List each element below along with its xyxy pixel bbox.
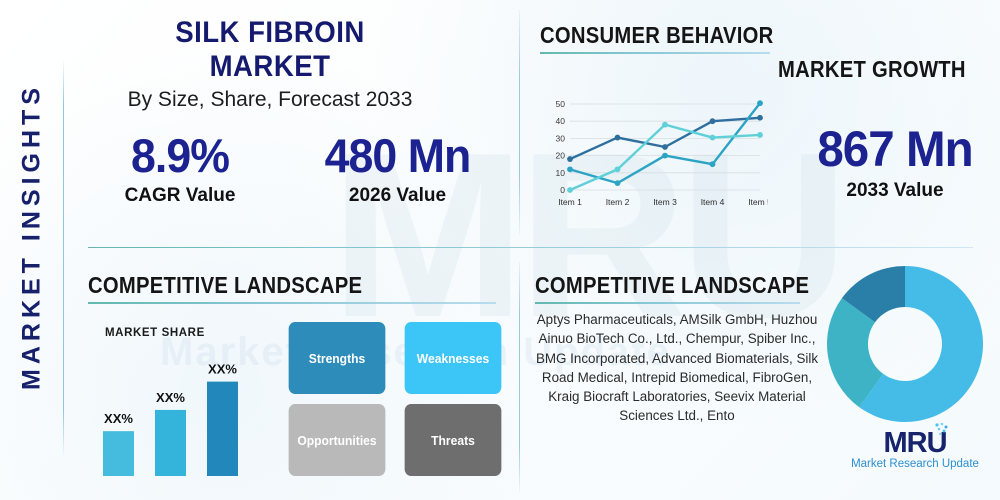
bar-chart-svg: XX%XX%XX%	[95, 330, 275, 478]
growth-stat: 867 Mn 2033 Value	[790, 120, 1000, 202]
svg-text:Item 1: Item 1	[558, 197, 582, 207]
swot-box-label: Strengths	[309, 351, 365, 366]
svg-text:30: 30	[556, 133, 566, 143]
horizontal-divider	[88, 247, 973, 248]
logo-mark: MRU	[883, 428, 946, 458]
swot-box-threats[interactable]: Threats	[405, 404, 502, 476]
swot-matrix: StrengthsWeaknessesOpportunitiesThreats	[285, 322, 505, 478]
svg-text:0: 0	[560, 185, 565, 195]
consumer-behavior-underline	[540, 52, 770, 54]
svg-text:Item 3: Item 3	[653, 197, 677, 207]
svg-text:XX%: XX%	[156, 390, 185, 405]
page-subtitle: By Size, Share, Forecast 2033	[85, 88, 455, 112]
company-list: Aptys Pharmaceuticals, AMSilk GmbH, Huzh…	[527, 310, 827, 426]
logo-dots-icon	[932, 422, 950, 438]
swot-box-opportunities[interactable]: Opportunities	[289, 404, 386, 476]
base-year-stat: 480 Mn 2026 Value	[290, 128, 505, 207]
growth-label: 2033 Value	[790, 180, 1000, 202]
market-share-donut-chart	[824, 263, 986, 425]
svg-text:Item 5: Item 5	[748, 197, 768, 207]
swot-box-label: Weaknesses	[417, 351, 489, 366]
cagr-label: CAGR Value	[85, 185, 275, 207]
growth-value: 867 Mn	[795, 120, 995, 178]
market-growth-heading: MARKET GROWTH	[778, 56, 966, 83]
swot-box-strengths[interactable]: Strengths	[289, 322, 386, 394]
consumer-behavior-line-chart: 01020304050Item 1Item 2Item 3Item 4Item …	[548, 98, 768, 210]
base-value: 480 Mn	[295, 128, 499, 183]
sidebar-rail: MARKET INSIGHTS	[0, 0, 60, 500]
svg-text:Item 4: Item 4	[701, 197, 725, 207]
cagr-stat: 8.9% CAGR Value	[85, 128, 275, 207]
svg-text:10: 10	[556, 168, 566, 178]
competitive-left-heading: COMPETITIVE LANDSCAPE	[88, 272, 362, 299]
base-label: 2026 Value	[290, 185, 505, 207]
logo-tagline: Market Research Update	[845, 458, 985, 470]
swot-box-label: Opportunities	[297, 433, 376, 448]
vertical-divider-bottom	[519, 262, 520, 492]
swot-box-weaknesses[interactable]: Weaknesses	[405, 322, 502, 394]
infographic-canvas: MRU Market Research Update MARKET INSIGH…	[0, 0, 1000, 500]
swot-box-label: Threats	[431, 433, 475, 448]
cagr-value: 8.9%	[90, 128, 271, 183]
brand-logo: MRU Market Research Update	[845, 428, 985, 470]
svg-text:50: 50	[556, 99, 566, 109]
donut-chart-svg	[824, 263, 986, 425]
competitive-right-underline	[535, 302, 800, 304]
svg-text:XX%: XX%	[208, 362, 237, 377]
market-share-bar-chart: XX%XX%XX%	[95, 330, 275, 478]
line-chart-svg: 01020304050Item 1Item 2Item 3Item 4Item …	[548, 98, 768, 210]
sidebar-label: MARKET INSIGHTS	[18, 42, 47, 432]
sidebar-divider	[63, 58, 64, 458]
vertical-divider-top	[519, 10, 520, 235]
svg-text:40: 40	[556, 116, 566, 126]
svg-text:XX%: XX%	[104, 411, 133, 426]
page-title: SILK FIBROIN MARKET	[132, 16, 408, 84]
consumer-behavior-heading: CONSUMER BEHAVIOR	[540, 22, 774, 49]
competitive-right-heading: COMPETITIVE LANDSCAPE	[535, 272, 809, 299]
svg-text:20: 20	[556, 151, 566, 161]
svg-text:Item 2: Item 2	[606, 197, 630, 207]
competitive-left-underline	[88, 302, 496, 304]
